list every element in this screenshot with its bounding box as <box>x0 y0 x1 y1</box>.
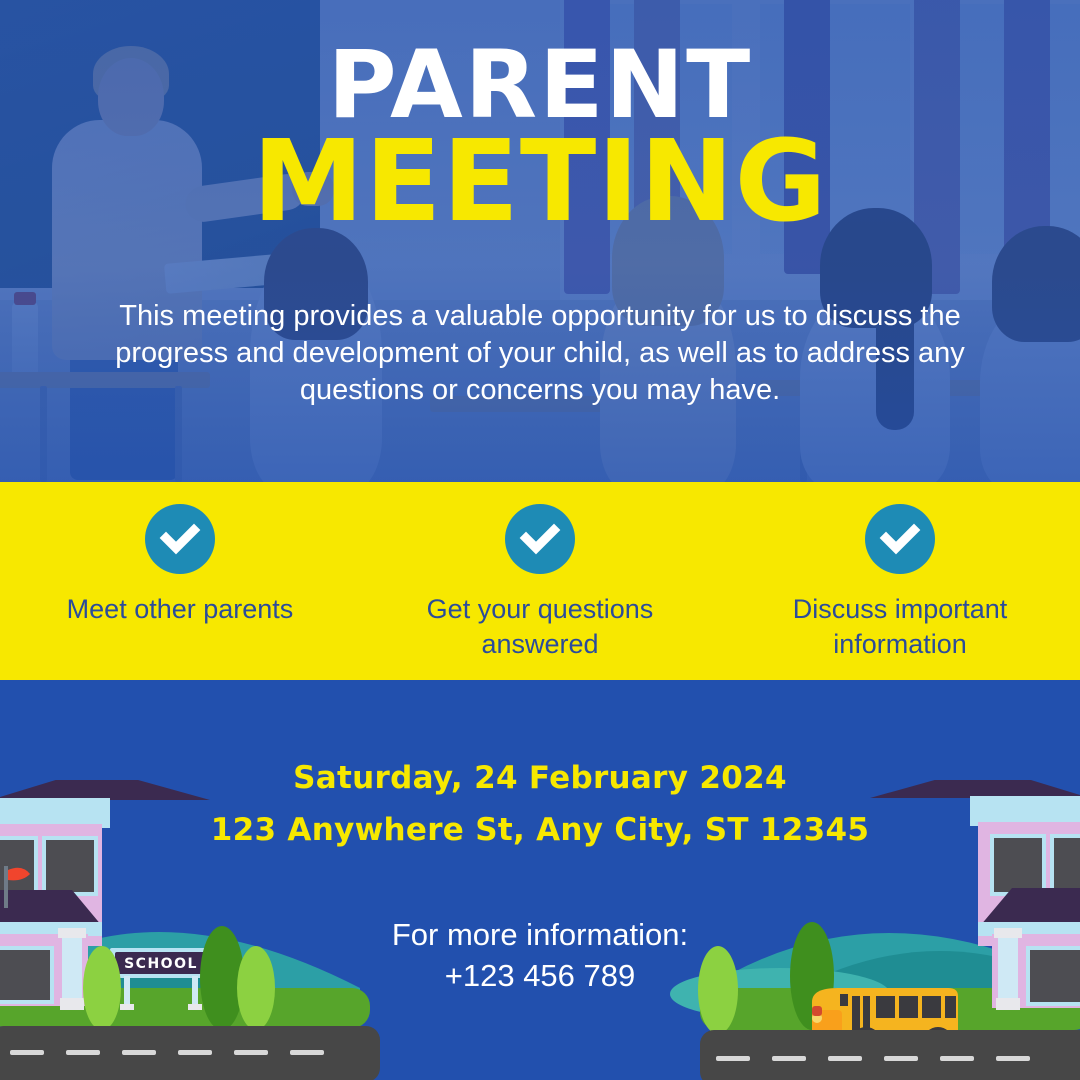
feature-item: Meet other parents <box>20 504 340 627</box>
features-band: Meet other parents Get your questions an… <box>0 482 1080 680</box>
feature-label: Discuss important information <box>740 592 1060 662</box>
contact-label: For more information: <box>0 915 1080 956</box>
road-dashes-right <box>716 1056 1030 1061</box>
event-details-section: SCHOOL <box>0 680 1080 1080</box>
bus-headlight <box>812 1013 822 1023</box>
headline-block: PARENT MEETING <box>0 40 1080 238</box>
event-address: 123 Anywhere St, Any City, ST 12345 <box>0 812 1080 848</box>
feature-item: Get your questions answered <box>380 504 700 662</box>
check-circle-icon <box>145 504 215 574</box>
intro-paragraph: This meeting provides a valuable opportu… <box>90 298 990 409</box>
road-left <box>0 1026 380 1080</box>
event-info-block: Saturday, 24 February 2024 123 Anywhere … <box>0 760 1080 848</box>
bus-taillight <box>812 1006 822 1016</box>
page-title-line2: MEETING <box>0 126 1080 238</box>
feature-label: Meet other parents <box>20 592 340 627</box>
road-dashes-left <box>10 1050 324 1055</box>
feature-item: Discuss important information <box>740 504 1060 662</box>
poster-canvas: PARENT MEETING This meeting provides a v… <box>0 0 1080 1080</box>
school-bus <box>812 988 958 1057</box>
contact-phone[interactable]: +123 456 789 <box>0 956 1080 997</box>
check-circle-icon <box>505 504 575 574</box>
contact-block: For more information: +123 456 789 <box>0 915 1080 997</box>
road-right <box>700 1030 1080 1080</box>
event-date: Saturday, 24 February 2024 <box>0 760 1080 796</box>
feature-label: Get your questions answered <box>380 592 700 662</box>
check-circle-icon <box>865 504 935 574</box>
